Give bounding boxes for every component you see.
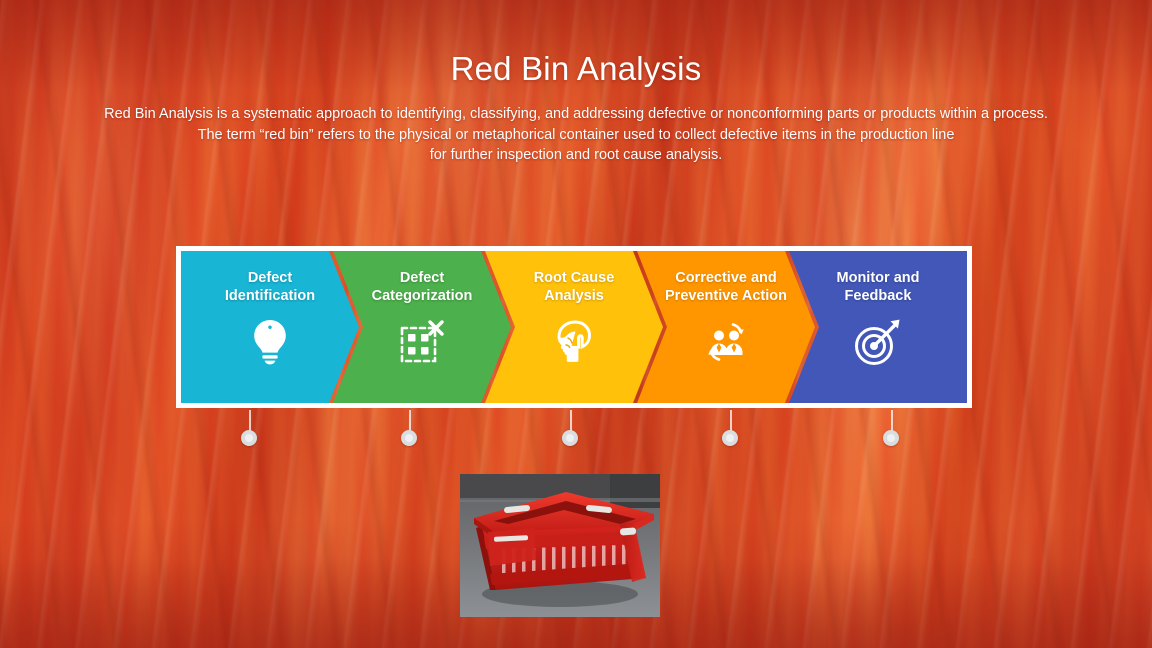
description-line-1: Red Bin Analysis is a systematic approac… — [76, 104, 1076, 125]
connector-dot-3[interactable] — [562, 430, 578, 446]
step-label-3-line2: Analysis — [499, 287, 649, 305]
process-step-monitor-feedback[interactable]: Monitor and Feedback — [789, 251, 967, 403]
target-arrow-icon — [789, 313, 967, 371]
step-label-2: Defect Categorization — [333, 269, 511, 305]
process-step-defect-identification[interactable]: Defect Identification — [181, 251, 359, 403]
step-label-4-line2: Preventive Action — [651, 287, 801, 305]
band-right-edge — [967, 246, 972, 408]
step-label-4-line1: Corrective and — [675, 270, 777, 286]
red-plastic-crate-photo — [460, 474, 660, 617]
step-label-1-line2: Identification — [195, 287, 345, 305]
head-brain-icon — [485, 313, 663, 371]
step-label-1-line1: Defect — [248, 270, 292, 286]
step-label-3-line1: Root Cause — [534, 270, 615, 286]
connector-dot-5[interactable] — [883, 430, 899, 446]
step-label-5-line1: Monitor and — [837, 270, 920, 286]
connector-dot-1[interactable] — [241, 430, 257, 446]
step-label-4: Corrective and Preventive Action — [637, 269, 815, 305]
process-step-defect-categorization[interactable]: Defect Categorization — [333, 251, 511, 403]
process-flow-band: Defect Identification Defect — [176, 246, 972, 408]
step-label-5: Monitor and Feedback — [789, 269, 967, 305]
description-line-2: The term “red bin” refers to the physica… — [76, 125, 1076, 146]
connector-dot-4[interactable] — [722, 430, 738, 446]
lightbulb-icon — [181, 313, 359, 371]
people-cycle-icon — [637, 313, 815, 371]
step-label-2-line2: Categorization — [347, 287, 497, 305]
connector-dot-2[interactable] — [401, 430, 417, 446]
process-step-root-cause-analysis[interactable]: Root Cause Analysis — [485, 251, 663, 403]
page-title: Red Bin Analysis — [0, 50, 1152, 88]
sort-grid-x-icon — [333, 313, 511, 371]
description-line-3: for further inspection and root cause an… — [76, 145, 1076, 166]
slide-canvas: Red Bin Analysis Red Bin Analysis is a s… — [0, 0, 1152, 648]
step-label-2-line1: Defect — [400, 270, 444, 286]
process-step-corrective-preventive-action[interactable]: Corrective and Preventive Action — [637, 251, 815, 403]
process-steps: Defect Identification Defect — [181, 251, 967, 403]
step-label-3: Root Cause Analysis — [485, 269, 663, 305]
step-label-5-line2: Feedback — [803, 287, 953, 305]
step-label-1: Defect Identification — [181, 269, 359, 305]
band-bottom-rule — [176, 403, 972, 408]
page-description: Red Bin Analysis is a systematic approac… — [76, 104, 1076, 166]
